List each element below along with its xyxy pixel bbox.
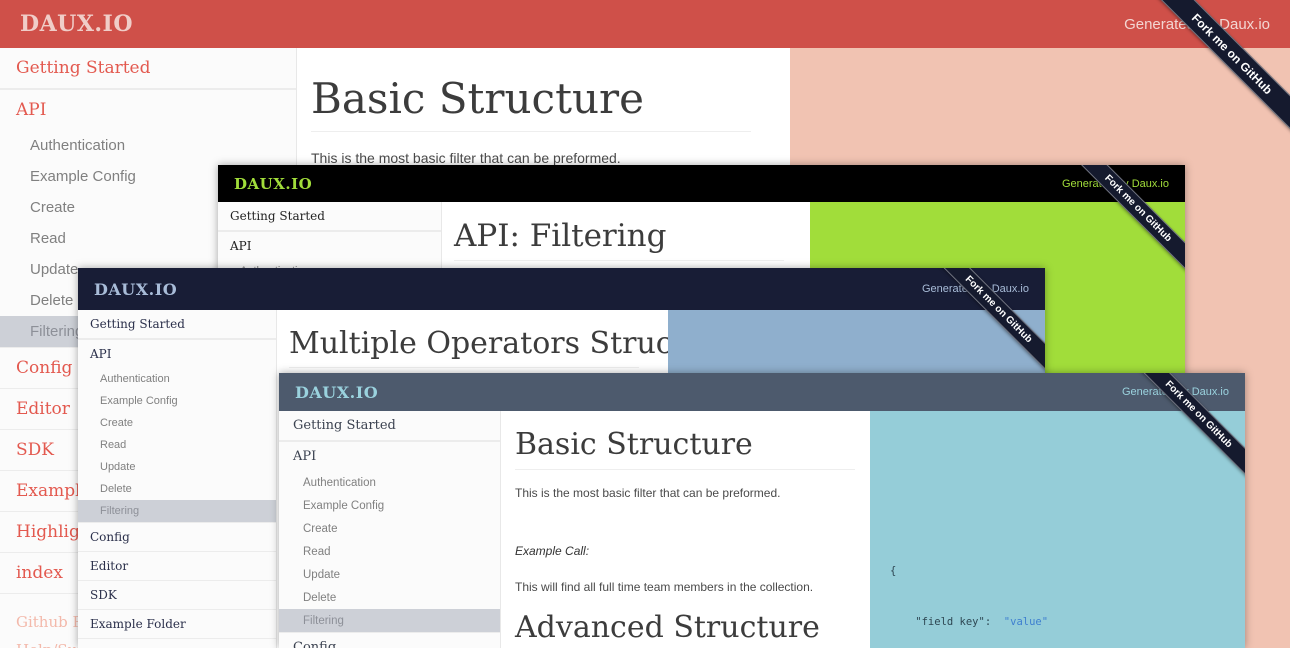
nav-group-getting-started: Getting Started <box>218 202 441 232</box>
title-divider <box>289 367 639 368</box>
page-title: Multiple Operators Structure <box>289 326 668 361</box>
page-subtitle-advanced: Advanced Structure <box>515 610 870 645</box>
brand-logo[interactable]: DAUX.IO <box>234 175 312 193</box>
nav-group-api: API Authentication Example Config Create… <box>279 442 500 633</box>
sidebar-item-read[interactable]: Read <box>279 540 500 563</box>
nav-group-getting-started: Getting Started <box>279 411 500 442</box>
intro-paragraph: This is the most basic filter that can b… <box>515 486 870 500</box>
sidebar-item-authentication[interactable]: Authentication <box>78 368 276 390</box>
sidebar-item-update[interactable]: Update <box>279 563 500 586</box>
sidebar-item-getting-started[interactable]: Getting Started <box>218 202 441 231</box>
sidebar-item-delete[interactable]: Delete <box>78 478 276 500</box>
sidebar-item-api[interactable]: API <box>0 90 296 130</box>
brand-logo[interactable]: DAUX.IO <box>20 11 133 37</box>
sidebar[interactable]: Getting Started API Authentication Examp… <box>78 310 277 648</box>
sidebar-item-authentication[interactable]: Authentication <box>0 130 296 161</box>
sidebar-item-create[interactable]: Create <box>279 517 500 540</box>
sidebar[interactable]: Getting Started API Authentication Examp… <box>279 411 501 648</box>
sidebar-item-read[interactable]: Read <box>78 434 276 456</box>
window-body: Getting Started API Authentication Examp… <box>279 411 1245 648</box>
title-divider <box>454 260 784 261</box>
sidebar-item-authentication[interactable]: Authentication <box>279 471 500 494</box>
sidebar-item-config[interactable]: Config <box>78 523 276 551</box>
brand-logo[interactable]: DAUX.IO <box>295 383 378 402</box>
title-divider <box>311 131 751 132</box>
intro-paragraph: This is the most basic filter that can b… <box>311 150 790 166</box>
nav-group-highlight-samples: Highlight Samples <box>78 639 276 648</box>
example-note-paragraph: This will find all full time team member… <box>515 580 870 594</box>
sidebar-item-create[interactable]: Create <box>78 412 276 434</box>
window-header: DAUX.IO Generated by Daux.io <box>78 268 1045 310</box>
sidebar-item-config[interactable]: Config <box>279 633 500 648</box>
code-column: { "field key": "value" } GET /collection… <box>870 411 1245 648</box>
sidebar-item-filtering[interactable]: Filtering <box>78 500 276 522</box>
page-title: Basic Structure <box>515 427 870 462</box>
nav-group-api: API Authentication Example Config Create… <box>78 340 276 523</box>
example-gap-spacer <box>515 558 870 580</box>
sidebar-item-example-config[interactable]: Example Config <box>78 390 276 412</box>
code-spacer <box>790 90 1290 158</box>
brand-logo[interactable]: DAUX.IO <box>94 280 177 299</box>
window-header: DAUX.IO Generated by Daux.io <box>218 165 1185 202</box>
nav-group-config: Config <box>78 523 276 552</box>
example-call-label: Example Call: <box>515 544 870 558</box>
sidebar-item-filtering[interactable]: Filtering <box>279 609 500 632</box>
code-spacer <box>870 445 1245 495</box>
content-area: Basic Structure This is the most basic f… <box>501 411 870 648</box>
sidebar-item-update[interactable]: Update <box>78 456 276 478</box>
sidebar-item-sdk[interactable]: SDK <box>78 581 276 609</box>
sidebar-item-highlight-samples[interactable]: Highlight Samples <box>78 639 276 648</box>
sidebar-item-delete[interactable]: Delete <box>279 586 500 609</box>
nav-group-config: Config <box>279 633 500 648</box>
sidebar-item-example-config[interactable]: Example Config <box>279 494 500 517</box>
code-key: "field key": <box>890 616 991 628</box>
window-header: DAUX.IO Generated by Daux.io <box>279 373 1245 411</box>
sidebar-item-api[interactable]: API <box>78 340 276 368</box>
sidebar-item-getting-started[interactable]: Getting Started <box>279 411 500 441</box>
window-slate[interactable]: DAUX.IO Generated by Daux.io Getting Sta… <box>279 373 1245 648</box>
sidebar-item-editor[interactable]: Editor <box>78 552 276 580</box>
page-title: Basic Structure <box>311 74 790 123</box>
section-gap-spacer <box>515 594 870 610</box>
title-divider <box>515 469 855 470</box>
window-header: DAUX.IO Generated by Daux.io <box>0 0 1290 48</box>
sidebar-item-getting-started[interactable]: Getting Started <box>78 310 276 339</box>
code-gap-spacer <box>515 500 870 544</box>
nav-group-getting-started: Getting Started <box>78 310 276 340</box>
code-line-open-brace: { <box>890 563 1245 580</box>
code-value: "value" <box>991 616 1048 628</box>
page-title: API: Filtering <box>454 218 810 254</box>
nav-group-getting-started: Getting Started <box>0 48 296 90</box>
sidebar-item-api[interactable]: API <box>218 232 441 260</box>
sidebar-item-example-folder[interactable]: Example Folder <box>78 610 276 638</box>
nav-group-sdk: SDK <box>78 581 276 610</box>
sidebar-item-getting-started[interactable]: Getting Started <box>0 48 296 89</box>
code-line-field-key: "field key": "value" <box>890 614 1245 631</box>
nav-group-example-folder: Example Folder <box>78 610 276 639</box>
sidebar-item-api[interactable]: API <box>279 442 500 471</box>
nav-group-editor: Editor <box>78 552 276 581</box>
